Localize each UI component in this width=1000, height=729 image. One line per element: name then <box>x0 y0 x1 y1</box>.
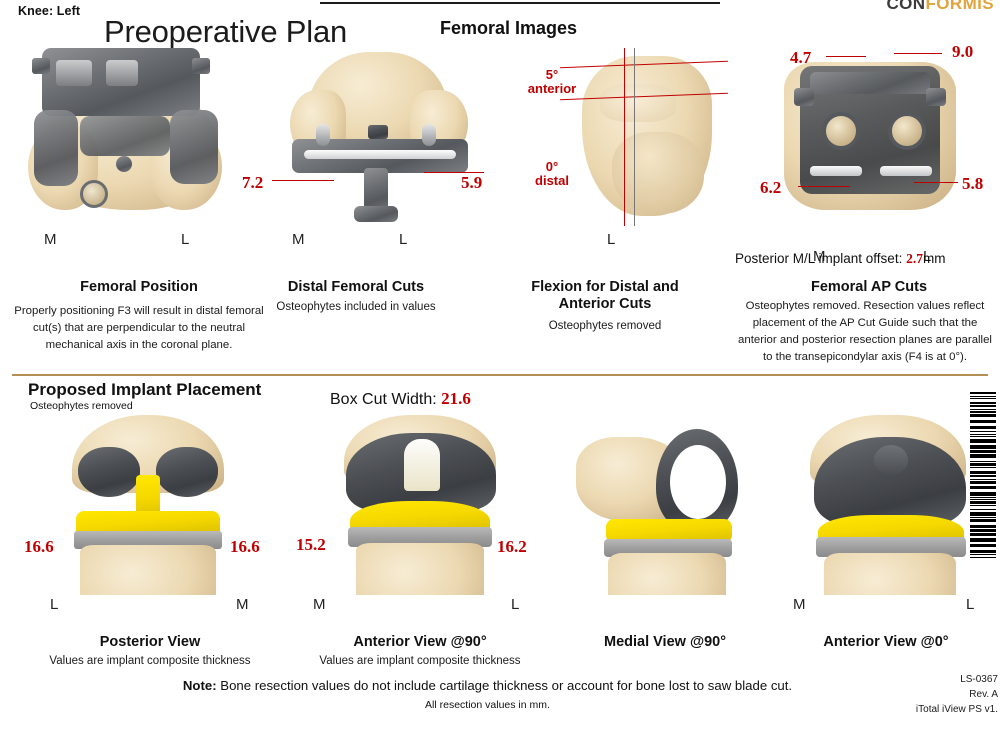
ml-letter-medial-femoral-position: M <box>44 231 57 248</box>
caption-sub-posterior-view: Values are implant composite thickness <box>30 654 270 670</box>
measurement-ap-anterior-lateral: 9.0 <box>952 42 973 62</box>
footer-note: Note: Bone resection values do not inclu… <box>0 678 975 693</box>
render-femoral-ap-cuts <box>770 48 970 220</box>
brand-logo-part1: CON <box>887 0 926 13</box>
ml-letter-lateral-posterior-view: L <box>50 596 58 613</box>
document-id: LS-0367 <box>916 672 998 687</box>
lead-line-ap-top-right <box>894 53 942 54</box>
render-femoral-position <box>20 30 240 225</box>
ml-letter-medial-posterior-view: M <box>236 596 249 613</box>
measurement-distal-medial: 7.2 <box>242 173 263 193</box>
caption-body-femoral-position: Properly positioning F3 will result in d… <box>12 303 266 354</box>
footer-note-bold: Note: <box>183 678 217 693</box>
caption-title-anterior-view-90: Anterior View @90° <box>310 634 530 651</box>
brand-logo-part2: FORMIS <box>925 0 994 13</box>
angle-label-distal: 0° distal <box>516 160 588 187</box>
measurement-ap-posterior-medial: 6.2 <box>760 178 781 198</box>
angle-name-distal: distal <box>535 173 569 188</box>
ml-letter-lateral-anterior-view-0: L <box>966 596 974 613</box>
measurement-posterior-lateral: 16.6 <box>24 537 54 557</box>
measurement-posterior-medial: 16.6 <box>230 537 260 557</box>
measurement-distal-lateral: 5.9 <box>461 173 482 193</box>
caption-title-distal-femoral-cuts: Distal Femoral Cuts <box>250 279 462 296</box>
lead-line-ap-bottom-right <box>914 182 958 183</box>
section-title-proposed-implant-placement: Proposed Implant Placement <box>28 380 261 400</box>
render-anterior-view-90 <box>320 415 520 595</box>
render-posterior-view <box>40 415 260 595</box>
lead-line-ap-bottom-left <box>798 186 850 187</box>
render-anterior-view-0 <box>790 415 990 595</box>
footer-note-sub: All resection values in mm. <box>0 699 975 711</box>
document-revision: Rev. A <box>916 687 998 702</box>
ml-letter-lateral-femoral-position: L <box>181 231 189 248</box>
ml-letter-medial-anterior-view-90: M <box>313 596 326 613</box>
render-distal-femoral-cuts <box>280 46 480 226</box>
ml-letter-medial-anterior-view-0: M <box>793 596 806 613</box>
angle-name-anterior: anterior <box>528 81 576 96</box>
caption-sub-flexion: Osteophytes removed <box>510 319 700 335</box>
knee-laterality-label: Knee: Left <box>18 4 80 18</box>
lead-line-distal-left <box>272 180 334 181</box>
caption-title-femoral-ap-cuts: Femoral AP Cuts <box>760 279 978 296</box>
caption-title-femoral-position: Femoral Position <box>20 279 258 296</box>
header-rule <box>320 2 720 4</box>
posterior-ml-offset-unit: mm <box>923 251 946 266</box>
render-medial-view-90 <box>570 415 760 595</box>
lead-line-ap-top-left <box>826 56 866 57</box>
measurement-ap-posterior-lateral: 5.8 <box>962 174 983 194</box>
caption-sub-distal-femoral-cuts: Osteophytes included in values <box>250 300 462 316</box>
caption-title-anterior-view-0: Anterior View @0° <box>780 634 992 651</box>
caption-title-medial-view-90: Medial View @90° <box>570 634 760 651</box>
barcode <box>970 392 996 570</box>
caption-body-femoral-ap-cuts: Osteophytes removed. Resection values re… <box>732 298 998 366</box>
section-title-femoral-images: Femoral Images <box>440 18 577 39</box>
angle-label-anterior: 5° anterior <box>516 68 588 95</box>
caption-title-flexion: Flexion for Distal and Anterior Cuts <box>510 279 700 313</box>
document-metadata: LS-0367 Rev. A iTotal iView PS v1. <box>916 672 998 717</box>
ml-letter-medial-distal-cuts: M <box>292 231 305 248</box>
footer-note-text: Bone resection values do not include car… <box>217 678 792 693</box>
posterior-ml-offset: Posterior M/L implant offset: 2.7mm <box>735 251 945 267</box>
section-divider <box>12 374 988 376</box>
box-cut-width-value: 21.6 <box>441 389 471 408</box>
box-cut-width-label: Box Cut Width: <box>330 391 437 408</box>
measurement-ap-anterior-medial: 4.7 <box>790 48 811 68</box>
measurement-anterior90-medial: 15.2 <box>296 535 326 555</box>
brand-logo: CONFORMIS <box>887 0 995 14</box>
caption-sub-anterior-view-90: Values are implant composite thickness <box>305 654 535 670</box>
ml-letter-lateral-distal-cuts: L <box>399 231 407 248</box>
box-cut-width: Box Cut Width: 21.6 <box>330 389 471 409</box>
section-sub-proposed-implant-placement: Osteophytes removed <box>30 400 133 412</box>
document-product: iTotal iView PS v1. <box>916 702 998 717</box>
posterior-ml-offset-value: 2.7 <box>906 251 923 266</box>
ml-letter-lateral-anterior-view-90: L <box>511 596 519 613</box>
ml-letter-lateral-flexion: L <box>607 231 615 248</box>
caption-title-posterior-view: Posterior View <box>40 634 260 651</box>
measurement-anterior90-lateral: 16.2 <box>497 537 527 557</box>
posterior-ml-offset-label: Posterior M/L implant offset: <box>735 251 902 266</box>
